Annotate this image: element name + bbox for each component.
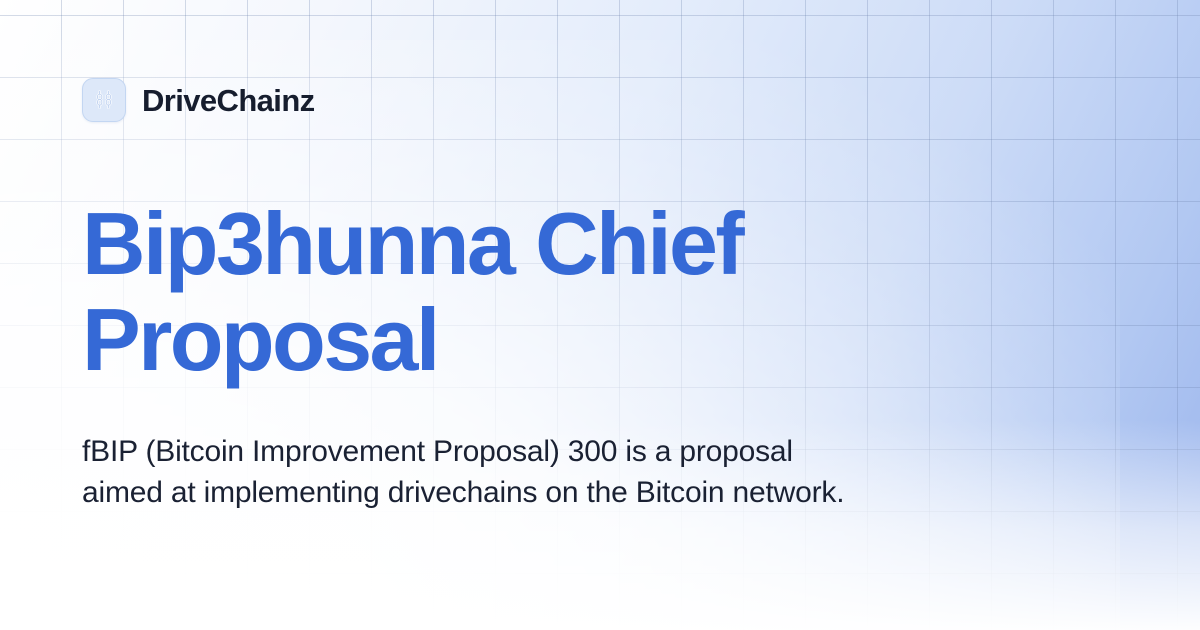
og-banner: DriveChainz Bip3hunna Chief Proposal fBI… [0, 0, 1200, 630]
page-title: Bip3hunna Chief Proposal [82, 196, 882, 388]
double-chain-link-icon [91, 87, 117, 113]
page-description: fBIP (Bitcoin Improvement Proposal) 300 … [82, 431, 872, 513]
brand-logo-tile [82, 78, 126, 122]
banner-content: DriveChainz Bip3hunna Chief Proposal fBI… [0, 0, 1200, 630]
brand-lockup: DriveChainz [82, 78, 315, 122]
brand-name: DriveChainz [142, 85, 315, 116]
